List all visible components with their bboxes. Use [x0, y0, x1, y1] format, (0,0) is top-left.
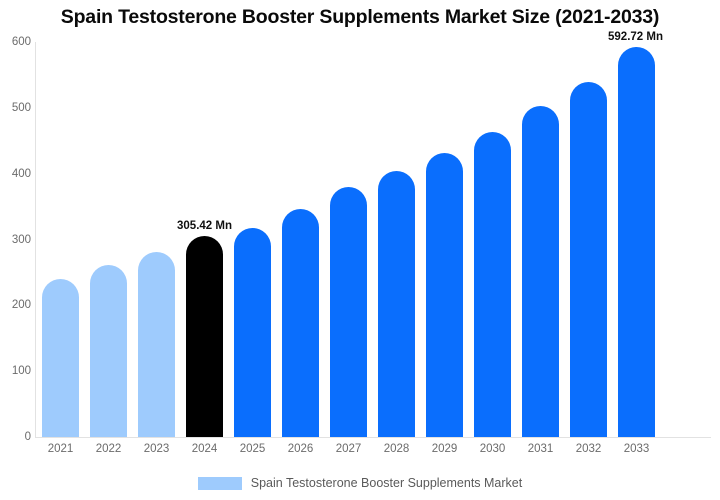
chart-title: Spain Testosterone Booster Supplements M… [0, 6, 720, 29]
plot-area: 305.42 Mn592.72 Mn [35, 42, 710, 437]
bar-2033[interactable] [618, 47, 655, 437]
bar-slot [474, 42, 511, 437]
bar-value-label-2033: 592.72 Mn [608, 31, 663, 43]
y-axis-tick: 400 [1, 168, 31, 180]
x-axis-tick: 2030 [469, 443, 517, 455]
x-axis-tick: 2025 [229, 443, 277, 455]
bar-2021[interactable] [42, 279, 79, 437]
bar-2023[interactable] [138, 252, 175, 437]
x-axis-tick: 2021 [37, 443, 85, 455]
x-axis-tick: 2029 [421, 443, 469, 455]
bar-2025[interactable] [234, 228, 271, 437]
bar-2024[interactable] [186, 236, 223, 437]
y-axis-tick: 100 [1, 365, 31, 377]
y-axis-line [35, 42, 36, 437]
x-axis-tick: 2033 [613, 443, 661, 455]
bar-2031[interactable] [522, 106, 559, 437]
legend-label-market: Spain Testosterone Booster Supplements M… [251, 476, 522, 490]
x-axis-line [35, 437, 711, 438]
chart-legend: Spain Testosterone Booster Supplements M… [0, 476, 720, 490]
x-axis-tick: 2026 [277, 443, 325, 455]
bar-slot [570, 42, 607, 437]
x-axis-tick: 2024 [181, 443, 229, 455]
y-axis-tick: 0 [1, 431, 31, 443]
bar-2026[interactable] [282, 209, 319, 437]
bar-slot [330, 42, 367, 437]
bar-2030[interactable] [474, 132, 511, 437]
y-axis-tick: 200 [1, 299, 31, 311]
legend-swatch-market [198, 477, 242, 490]
x-axis: 2021202220232024202520262027202820292030… [35, 443, 710, 463]
bar-slot [378, 42, 415, 437]
y-axis-tick: 600 [1, 36, 31, 48]
bar-chart: Spain Testosterone Booster Supplements M… [0, 0, 720, 500]
bar-2027[interactable] [330, 187, 367, 437]
y-axis-tick: 300 [1, 234, 31, 246]
y-axis-tick: 500 [1, 102, 31, 114]
bar-2022[interactable] [90, 265, 127, 437]
bar-slot [138, 42, 175, 437]
x-axis-tick: 2023 [133, 443, 181, 455]
x-axis-tick: 2022 [85, 443, 133, 455]
bar-slot [234, 42, 271, 437]
bar-slot [90, 42, 127, 437]
bar-2032[interactable] [570, 82, 607, 437]
bar-value-label-2024: 305.42 Mn [177, 220, 232, 232]
bar-slot: 592.72 Mn [618, 42, 655, 437]
x-axis-tick: 2032 [565, 443, 613, 455]
bar-slot [282, 42, 319, 437]
y-axis: 6005004003002001000 [0, 0, 31, 500]
x-axis-tick: 2028 [373, 443, 421, 455]
bar-2028[interactable] [378, 171, 415, 437]
bar-slot [426, 42, 463, 437]
bar-2029[interactable] [426, 153, 463, 437]
bar-slot: 305.42 Mn [186, 42, 223, 437]
x-axis-tick: 2031 [517, 443, 565, 455]
bar-slot [42, 42, 79, 437]
bar-slot [522, 42, 559, 437]
x-axis-tick: 2027 [325, 443, 373, 455]
